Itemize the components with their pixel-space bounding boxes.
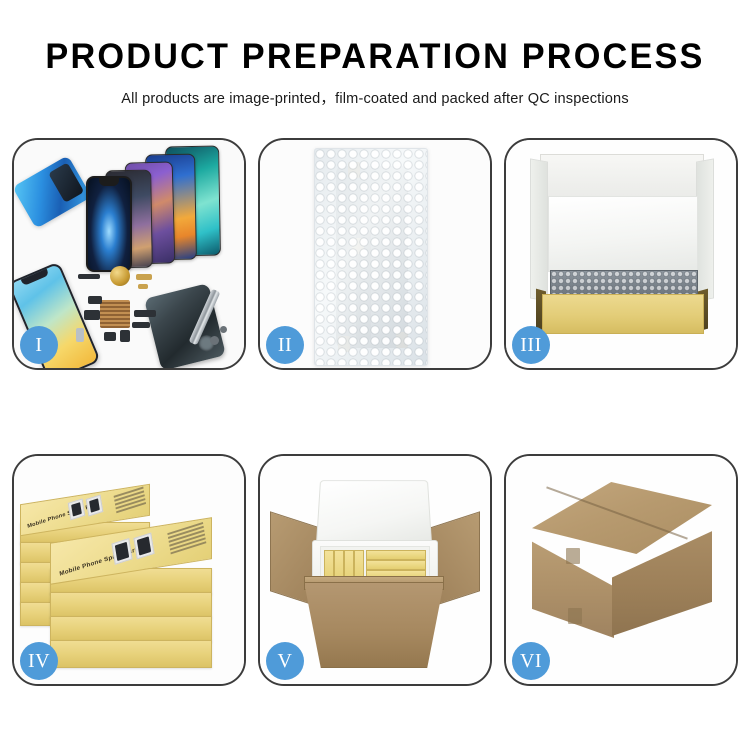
box-label-thumb-1b xyxy=(86,494,104,516)
box-label-thumb-1a xyxy=(68,498,86,520)
step-panel-6[interactable]: VI xyxy=(504,454,738,686)
step-badge-3: III xyxy=(512,326,550,364)
logic-board-chip xyxy=(100,300,130,328)
styrofoam-lid xyxy=(316,480,432,546)
carton-tape-1 xyxy=(566,548,580,564)
stacked-box-f4 xyxy=(50,640,212,668)
phone-screen-1 xyxy=(86,176,132,272)
step-panel-4[interactable]: Mobile Phone Spare Parts xyxy=(12,454,246,686)
page-header: PRODUCT PREPARATION PROCESS All products… xyxy=(0,36,750,108)
small-part-7 xyxy=(120,330,130,342)
step-panel-5[interactable]: V xyxy=(258,454,492,686)
step-panel-1[interactable]: I xyxy=(12,138,246,370)
bubble-wrap-bag xyxy=(314,148,428,366)
vibration-motor-part xyxy=(110,266,130,286)
box-flap-left xyxy=(530,158,548,301)
small-part-8 xyxy=(76,328,84,342)
blue-screen-film xyxy=(14,155,92,229)
page-title: PRODUCT PREPARATION PROCESS xyxy=(8,36,743,78)
stacked-box-f3 xyxy=(50,616,212,642)
carton-body xyxy=(304,582,444,668)
small-part-5 xyxy=(84,310,100,320)
small-part-2 xyxy=(136,274,152,280)
process-step-grid: I II xyxy=(12,138,738,686)
carton-tape-2 xyxy=(568,608,582,624)
stacked-box-f2 xyxy=(50,592,212,618)
page-root: PRODUCT PREPARATION PROCESS All products… xyxy=(0,0,750,750)
box-label-specs-2 xyxy=(167,522,206,556)
screw-part-2 xyxy=(220,326,227,333)
step-panel-2[interactable]: II xyxy=(258,138,492,370)
flex-cable-2 xyxy=(132,322,150,328)
step-badge-5: V xyxy=(266,642,304,680)
packed-box-5 xyxy=(366,550,426,560)
step-badge-4: IV xyxy=(20,642,58,680)
small-part-6 xyxy=(104,332,116,341)
white-foam-sheet xyxy=(548,196,698,272)
box-label-thumb-2a xyxy=(111,538,132,565)
step-badge-2: II xyxy=(266,326,304,364)
yellow-box-front xyxy=(542,294,704,334)
box-label-thumb-2b xyxy=(133,533,154,560)
flex-cable-1 xyxy=(134,310,156,317)
step-badge-1: I xyxy=(20,326,58,364)
small-part-4 xyxy=(88,296,102,304)
step-badge-6: VI xyxy=(512,642,550,680)
small-part-1 xyxy=(78,274,100,279)
screw-part-1 xyxy=(210,336,219,345)
step-panel-3[interactable]: III xyxy=(504,138,738,370)
box-flap-right xyxy=(696,158,714,301)
page-subtitle: All products are image-printed，film-coat… xyxy=(0,87,750,108)
box-label-specs-1 xyxy=(114,487,147,516)
small-part-3 xyxy=(138,284,148,289)
packed-box-6 xyxy=(366,560,426,570)
